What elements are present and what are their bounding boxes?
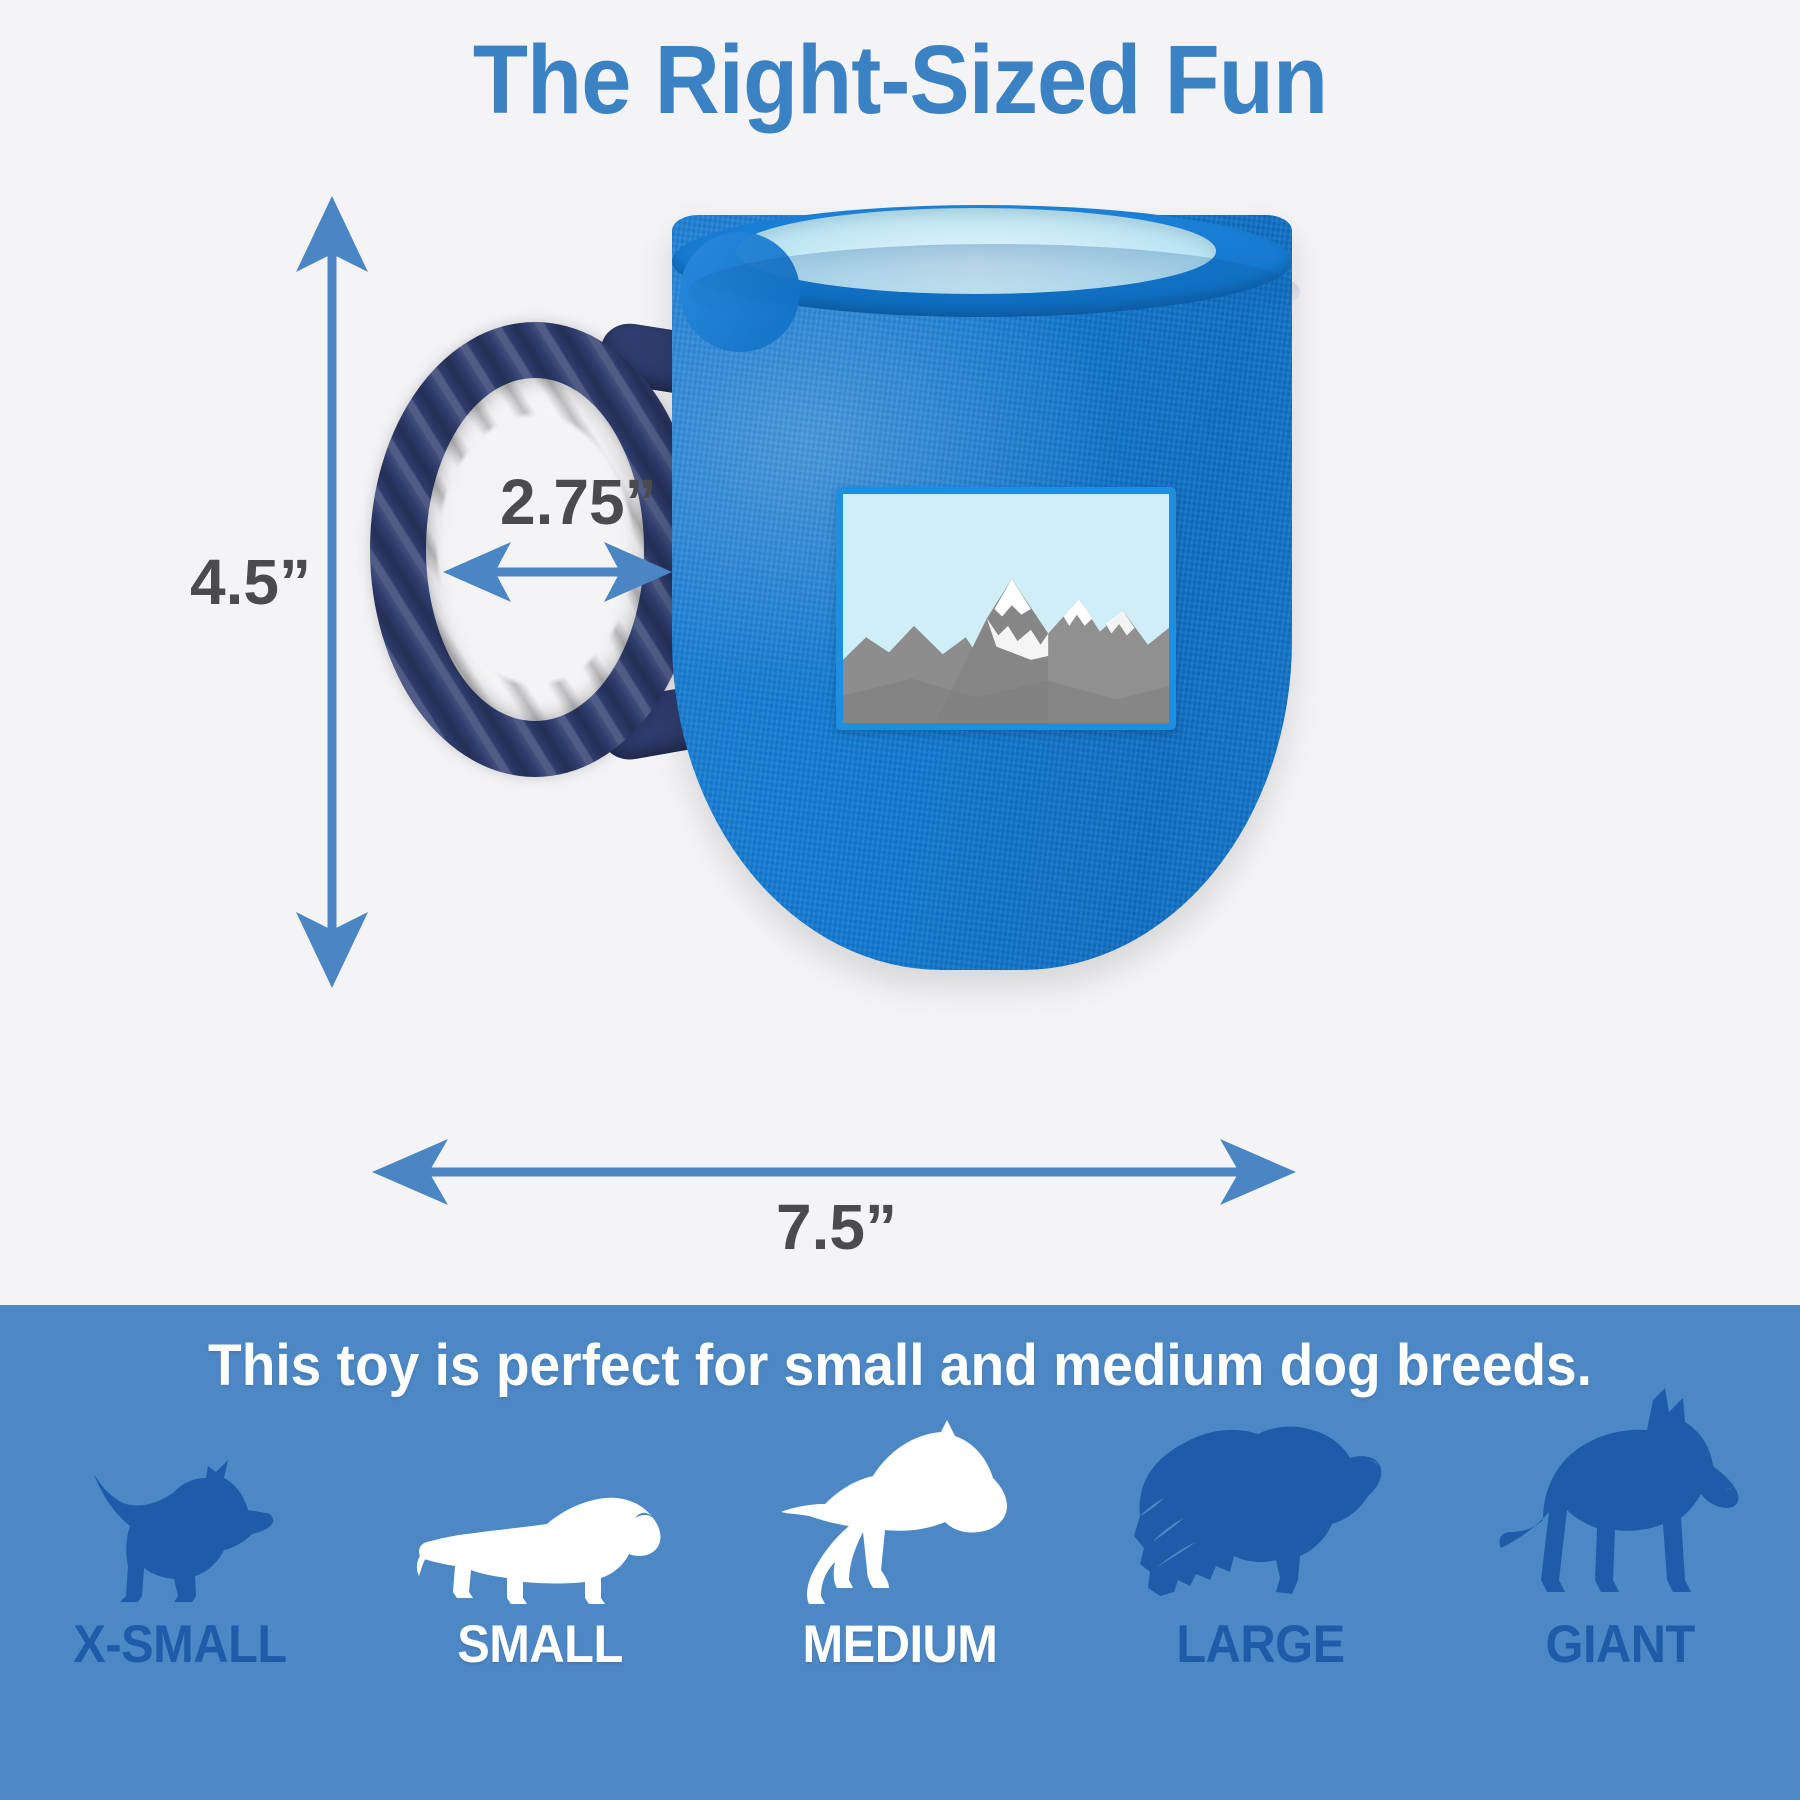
dachshund-icon bbox=[413, 1378, 667, 1608]
breed-size-row: X-SMALL SMALL MEDIUM bbox=[0, 1415, 1800, 1675]
breed-size-label: X-SMALL bbox=[73, 1614, 286, 1675]
great-dane-icon bbox=[1497, 1378, 1743, 1608]
product-image bbox=[0, 0, 1800, 1305]
breed-size-label: GIANT bbox=[1545, 1614, 1694, 1675]
height-dimension-label: 4.5” bbox=[190, 545, 311, 619]
golden-retriever-icon bbox=[1134, 1378, 1386, 1608]
breed-size-item-small[interactable]: SMALL bbox=[366, 1378, 714, 1675]
rope-handle-ring bbox=[370, 322, 700, 777]
breed-size-label: SMALL bbox=[457, 1614, 623, 1675]
total-width-dimension-label: 7.5” bbox=[776, 1190, 897, 1264]
breed-size-banner: This toy is perfect for small and medium… bbox=[0, 1305, 1800, 1800]
breed-size-label: LARGE bbox=[1176, 1614, 1344, 1675]
breed-size-item-large[interactable]: LARGE bbox=[1086, 1378, 1434, 1675]
breed-size-item-giant[interactable]: GIANT bbox=[1446, 1378, 1794, 1675]
breed-size-item-medium[interactable]: MEDIUM bbox=[726, 1378, 1074, 1675]
inner-width-dimension-label: 2.75” bbox=[500, 465, 657, 539]
product-dimension-panel: The Right-Sized Fun bbox=[0, 0, 1800, 1305]
breed-size-label: MEDIUM bbox=[803, 1614, 998, 1675]
mug-rim-shadow bbox=[688, 244, 1300, 340]
mountain-patch bbox=[836, 487, 1176, 730]
bull-terrier-icon bbox=[777, 1378, 1023, 1608]
breed-size-item-x-small[interactable]: X-SMALL bbox=[6, 1378, 354, 1675]
mountain-graphic bbox=[843, 494, 1169, 723]
infographic-canvas: The Right-Sized Fun bbox=[0, 0, 1800, 1800]
chihuahua-icon bbox=[82, 1378, 278, 1608]
